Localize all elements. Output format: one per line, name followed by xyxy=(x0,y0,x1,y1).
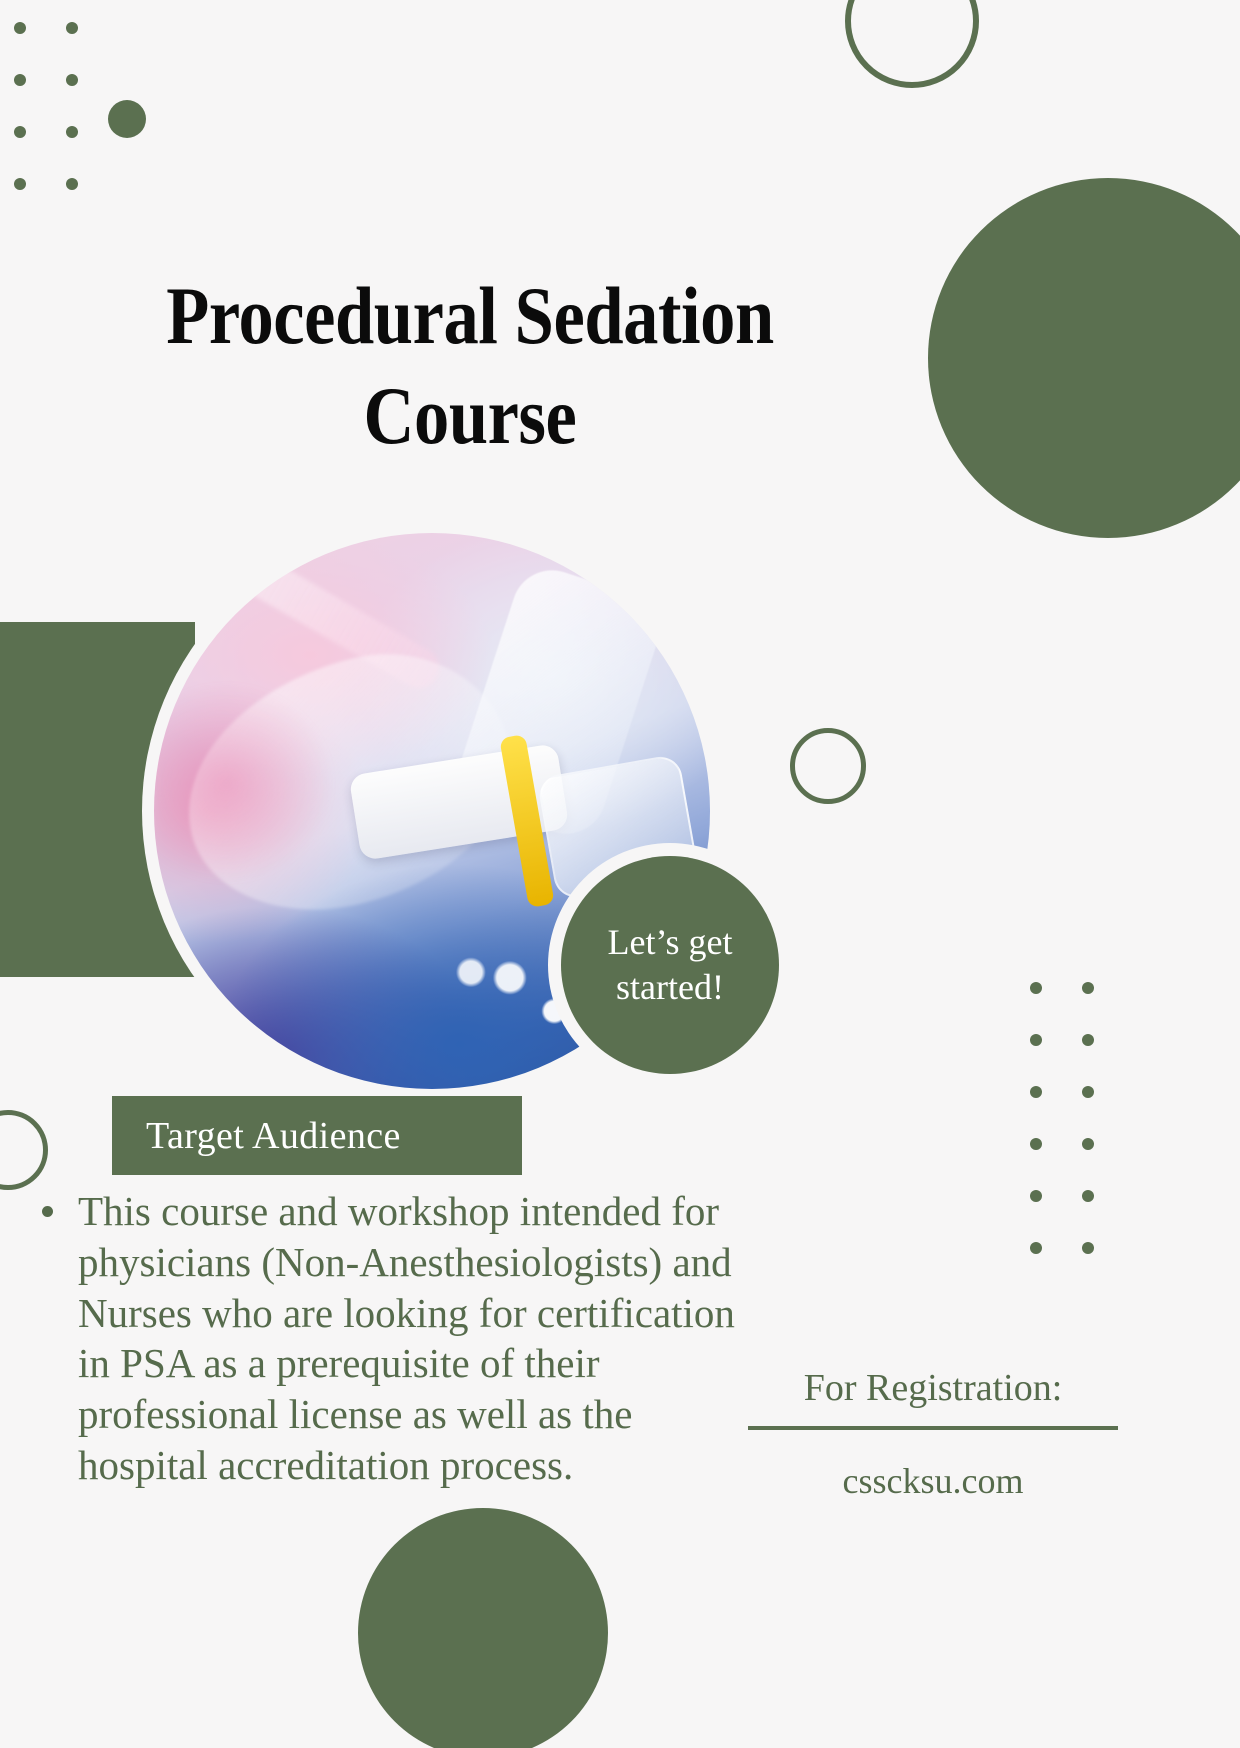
bullet-icon xyxy=(42,1206,53,1217)
dot xyxy=(14,22,26,34)
ring-circle-middle-right xyxy=(790,728,866,804)
registration-label: For Registration: xyxy=(748,1366,1118,1412)
target-audience-list: This course and workshop intended for ph… xyxy=(28,1186,768,1491)
dot xyxy=(66,126,78,138)
dot xyxy=(1030,1190,1042,1202)
dot xyxy=(66,178,78,190)
dot xyxy=(14,178,26,190)
poster-canvas: Procedural Sedation Course Let’s get sta… xyxy=(0,0,1240,1748)
dot xyxy=(14,74,26,86)
dot xyxy=(1082,1086,1094,1098)
registration-url[interactable]: csscksu.com xyxy=(748,1460,1118,1502)
list-item-text: This course and workshop intended for ph… xyxy=(78,1188,735,1488)
large-dot-decoration xyxy=(108,100,146,138)
filled-circle-bottom xyxy=(358,1508,608,1748)
dot xyxy=(66,22,78,34)
dot xyxy=(14,126,26,138)
dot xyxy=(1030,1242,1042,1254)
registration-block: For Registration: csscksu.com xyxy=(748,1366,1118,1502)
section-label-target-audience: Target Audience xyxy=(112,1096,522,1175)
registration-divider xyxy=(748,1426,1118,1430)
dot xyxy=(1082,1034,1094,1046)
lets-get-started-badge[interactable]: Let’s get started! xyxy=(561,856,779,1074)
dot xyxy=(1030,1086,1042,1098)
dot xyxy=(1082,1190,1094,1202)
photo-shape-pink-glow xyxy=(154,683,334,883)
dot-grid-top-left xyxy=(14,22,118,230)
dot-grid-right xyxy=(1030,982,1134,1294)
dot xyxy=(1082,982,1094,994)
ring-circle-bottom-left xyxy=(0,1110,48,1190)
dot xyxy=(1082,1138,1094,1150)
ring-circle-top-right xyxy=(845,0,979,88)
filled-circle-right xyxy=(928,178,1240,538)
dot xyxy=(66,74,78,86)
list-item: This course and workshop intended for ph… xyxy=(28,1186,768,1491)
dot xyxy=(1030,982,1042,994)
poster-title: Procedural Sedation Course xyxy=(143,266,797,466)
dot xyxy=(1082,1242,1094,1254)
dot xyxy=(1030,1034,1042,1046)
dot xyxy=(1030,1138,1042,1150)
